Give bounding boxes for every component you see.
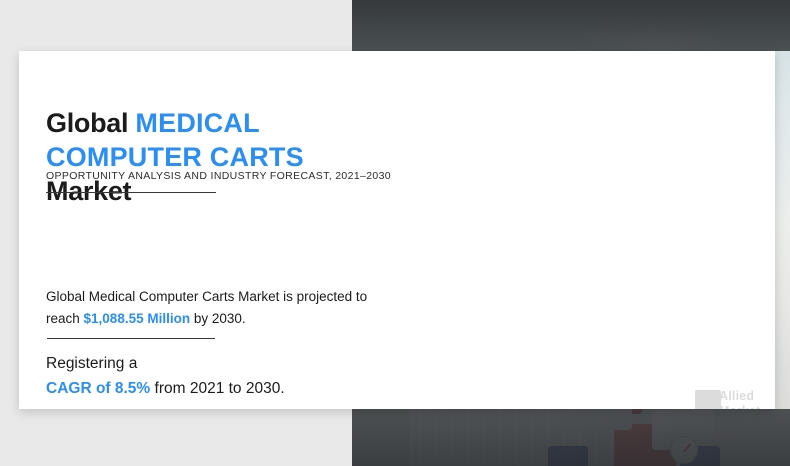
poster-canvas: Allied Market Research Global MEDICAL CO… bbox=[0, 0, 790, 466]
logo-line-2: Market bbox=[719, 405, 775, 410]
title-divider bbox=[46, 192, 216, 193]
report-card: Allied Market Research Global MEDICAL CO… bbox=[19, 51, 775, 409]
projection-statement: Global Medical Computer Carts Market is … bbox=[46, 286, 386, 330]
photo-top-scrim bbox=[352, 0, 790, 51]
cagr-value: CAGR of 8.5% bbox=[46, 380, 150, 397]
logo-line-1: Allied bbox=[719, 390, 775, 403]
projection-trail: by 2030. bbox=[190, 311, 246, 326]
cagr-lead: Registering a bbox=[46, 355, 137, 372]
white-curve-mask bbox=[352, 51, 692, 409]
projection-value: $1,088.55 Million bbox=[84, 311, 191, 326]
page-bottom-left-fill bbox=[0, 409, 352, 466]
card-photo-window bbox=[352, 51, 775, 409]
logo-bar bbox=[699, 407, 717, 409]
report-subtitle: OPPORTUNITY ANALYSIS AND INDUSTRY FORECA… bbox=[46, 170, 376, 182]
cagr-trail: from 2021 to 2030. bbox=[150, 380, 284, 397]
logo-speech-bubble-icon bbox=[695, 390, 721, 409]
logo-wordmark: Allied Market Research bbox=[719, 390, 775, 409]
report-text-block: Global MEDICAL COMPUTER CARTS Market OPP… bbox=[19, 51, 379, 409]
stats-divider bbox=[47, 338, 215, 339]
allied-market-research-logo: Allied Market Research bbox=[695, 388, 775, 409]
cagr-statement: Registering aCAGR of 8.5% from 2021 to 2… bbox=[46, 351, 386, 401]
logo-bar bbox=[699, 396, 713, 404]
title-prefix: Global bbox=[46, 108, 135, 138]
